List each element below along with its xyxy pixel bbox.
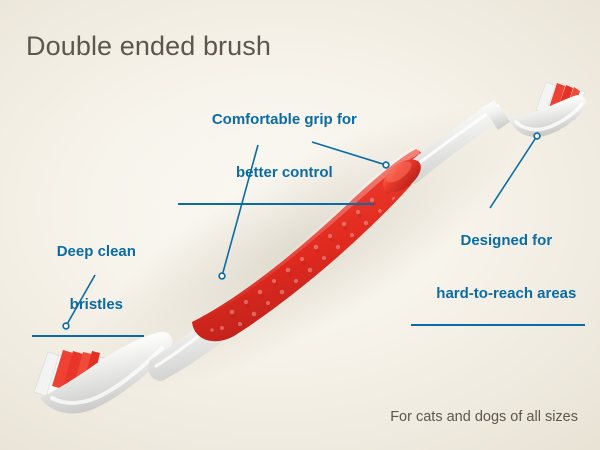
callout-grip-line1: Comfortable grip for: [212, 111, 357, 128]
callout-designed-for-hard-to-reach-areas: Designed for hard-to-reach areas: [411, 214, 585, 361]
callout-bristles-line1: Deep clean: [57, 243, 136, 260]
callout-bristles-underline: [32, 335, 144, 337]
callout-reach-underline: [411, 324, 585, 326]
callout-deep-clean-bristles: Deep clean bristles: [32, 225, 144, 372]
callout-comfortable-grip: Comfortable grip for better control: [178, 93, 374, 240]
callout-grip-line2: better control: [236, 164, 333, 181]
callout-reach-line2: hard-to-reach areas: [436, 285, 576, 302]
callout-grip-underline: [178, 203, 374, 205]
callout-bristles-line2: bristles: [70, 296, 123, 313]
product-infographic: Double ended brush Comfortable grip for …: [0, 0, 600, 450]
page-title: Double ended brush: [26, 31, 271, 62]
callout-reach-line1: Designed for: [460, 232, 552, 249]
footer-note: For cats and dogs of all sizes: [390, 409, 578, 426]
